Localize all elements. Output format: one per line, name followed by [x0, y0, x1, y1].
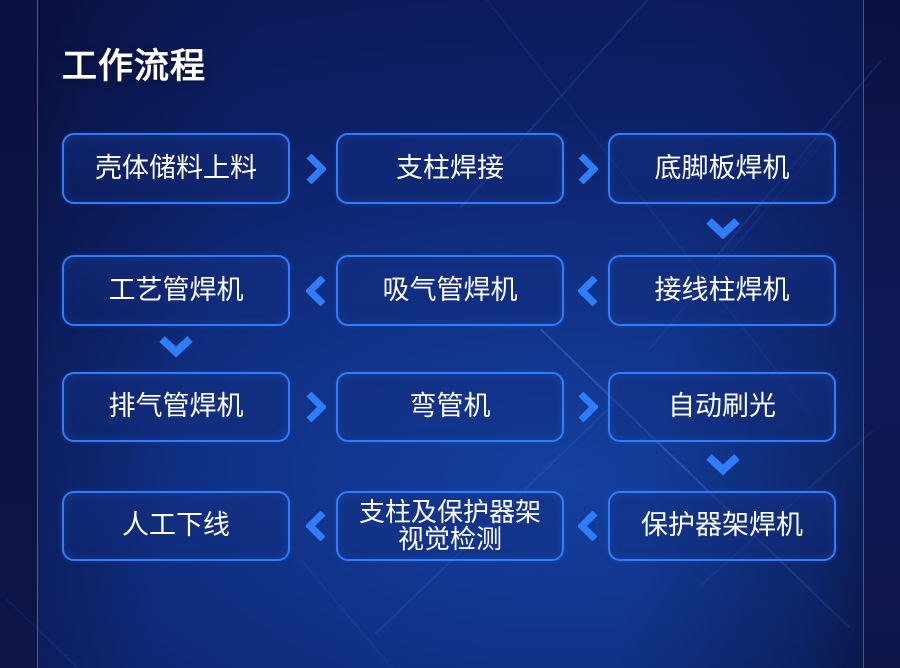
background-vignette	[0, 0, 900, 668]
flow-node-n6[interactable]: 工艺管焊机	[62, 255, 290, 326]
flow-node-n7[interactable]: 排气管焊机	[62, 372, 290, 442]
chevron-right-icon	[572, 390, 604, 424]
chevron-down-icon	[706, 452, 740, 478]
chevron-right-icon	[300, 390, 332, 424]
flow-node-n11[interactable]: 支柱及保护器架 视觉检测	[336, 491, 564, 561]
flow-node-n5[interactable]: 吸气管焊机	[336, 255, 564, 326]
chevron-right-icon	[300, 152, 332, 186]
flow-node-n4[interactable]: 接线柱焊机	[608, 255, 836, 326]
flow-node-n2[interactable]: 支柱焊接	[336, 133, 564, 204]
chevron-left-icon	[572, 274, 604, 308]
chevron-down-icon	[159, 334, 193, 360]
left-edge-panel	[0, 0, 37, 668]
flow-node-n1[interactable]: 壳体储料上料	[62, 133, 290, 204]
chevron-left-icon	[572, 509, 604, 543]
chevron-right-icon	[572, 152, 604, 186]
right-divider-line	[863, 0, 864, 668]
left-divider-line	[37, 0, 38, 668]
chevron-left-icon	[300, 274, 332, 308]
flow-node-n8[interactable]: 弯管机	[336, 372, 564, 442]
flow-node-n10[interactable]: 保护器架焊机	[608, 491, 836, 561]
page-title: 工作流程	[62, 38, 206, 89]
flow-node-n9[interactable]: 自动刷光	[608, 372, 836, 442]
flow-node-n12[interactable]: 人工下线	[62, 491, 290, 561]
chevron-left-icon	[300, 509, 332, 543]
chevron-down-icon	[706, 216, 740, 242]
right-edge-panel	[864, 0, 900, 668]
flow-node-n3[interactable]: 底脚板焊机	[608, 133, 836, 204]
workflow-infographic: 工作流程 壳体储料上料 支柱焊接 底脚板焊机 工艺管焊机 吸气管焊机 接线柱焊机	[0, 0, 900, 668]
